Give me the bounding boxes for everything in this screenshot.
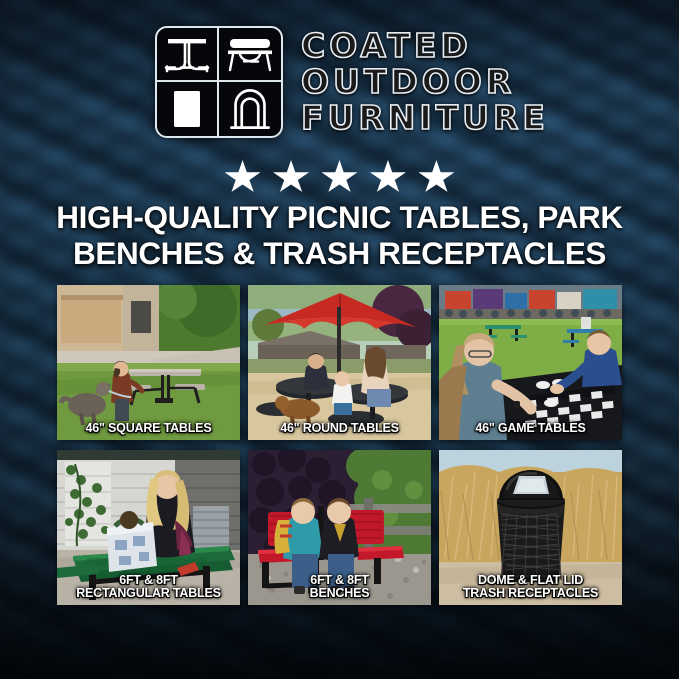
caption-line: 46" ROUND TABLES <box>251 422 428 435</box>
product-tile-round-tables[interactable]: 46" ROUND TABLES <box>248 285 431 440</box>
tile-caption: DOME & FLAT LID TRASH RECEPTACLES <box>442 574 619 600</box>
caption-line: 46" GAME TABLES <box>442 422 619 435</box>
brand-line-2: OUTDOOR <box>301 65 549 99</box>
brand-wordmark: COATED OUTDOOR FURNITURE <box>301 29 549 136</box>
headline-line-1: HIGH-QUALITY PICNIC TABLES, PARK <box>30 200 649 236</box>
five-star-rating <box>0 160 679 200</box>
caption-line: 46" SQUARE TABLES <box>60 422 237 435</box>
tile-caption: 46" SQUARE TABLES <box>60 422 237 435</box>
brand-line-3: FURNITURE <box>301 101 549 135</box>
product-category-grid: 46" SQUARE TABLES <box>57 285 622 605</box>
caption-line: DOME & FLAT LID <box>442 574 619 587</box>
coated-outdoor-furniture-logo-mark <box>155 26 283 138</box>
brand-logo: COATED OUTDOOR FURNITURE <box>155 26 549 138</box>
caption-line: 6FT & 8FT <box>251 574 428 587</box>
tile-caption: 46" ROUND TABLES <box>251 422 428 435</box>
caption-line: BENCHES <box>251 587 428 600</box>
photo-woman-and-dog-at-square-picnic-table <box>57 285 240 440</box>
headline-line-2: BENCHES & TRASH RECEPTACLES <box>30 236 649 272</box>
tile-caption: 6FT & 8FT BENCHES <box>251 574 428 600</box>
photo-people-playing-checkers-at-game-table <box>439 285 622 440</box>
caption-line: TRASH RECEPTACLES <box>442 587 619 600</box>
star-icon <box>370 160 406 195</box>
caption-line: 6FT & 8FT <box>60 574 237 587</box>
product-tile-benches[interactable]: 6FT & 8FT BENCHES <box>248 450 431 605</box>
star-icon <box>418 160 454 195</box>
park-bench-icon <box>219 28 281 82</box>
tile-caption: 6FT & 8FT RECTANGULAR TABLES <box>60 574 237 600</box>
bike-rack-icon <box>219 82 281 136</box>
brand-line-1: COATED <box>301 29 549 63</box>
star-icon <box>225 160 261 195</box>
caption-line: RECTANGULAR TABLES <box>60 587 237 600</box>
product-tile-rectangular-tables[interactable]: 6FT & 8FT RECTANGULAR TABLES <box>57 450 240 605</box>
tile-caption: 46" GAME TABLES <box>442 422 619 435</box>
photo-family-at-round-table-with-red-umbrella <box>248 285 431 440</box>
trash-receptacle-icon <box>157 82 219 136</box>
product-tile-game-tables[interactable]: 46" GAME TABLES <box>439 285 622 440</box>
page-title: HIGH-QUALITY PICNIC TABLES, PARK BENCHES… <box>30 200 649 271</box>
product-tile-square-tables[interactable]: 46" SQUARE TABLES <box>57 285 240 440</box>
star-icon <box>273 160 309 195</box>
marketing-poster: COATED OUTDOOR FURNITURE HIGH-QUALITY PI… <box>0 0 679 679</box>
picnic-table-icon <box>157 28 219 82</box>
star-icon <box>322 160 358 195</box>
product-tile-trash-receptacles[interactable]: DOME & FLAT LID TRASH RECEPTACLES <box>439 450 622 605</box>
